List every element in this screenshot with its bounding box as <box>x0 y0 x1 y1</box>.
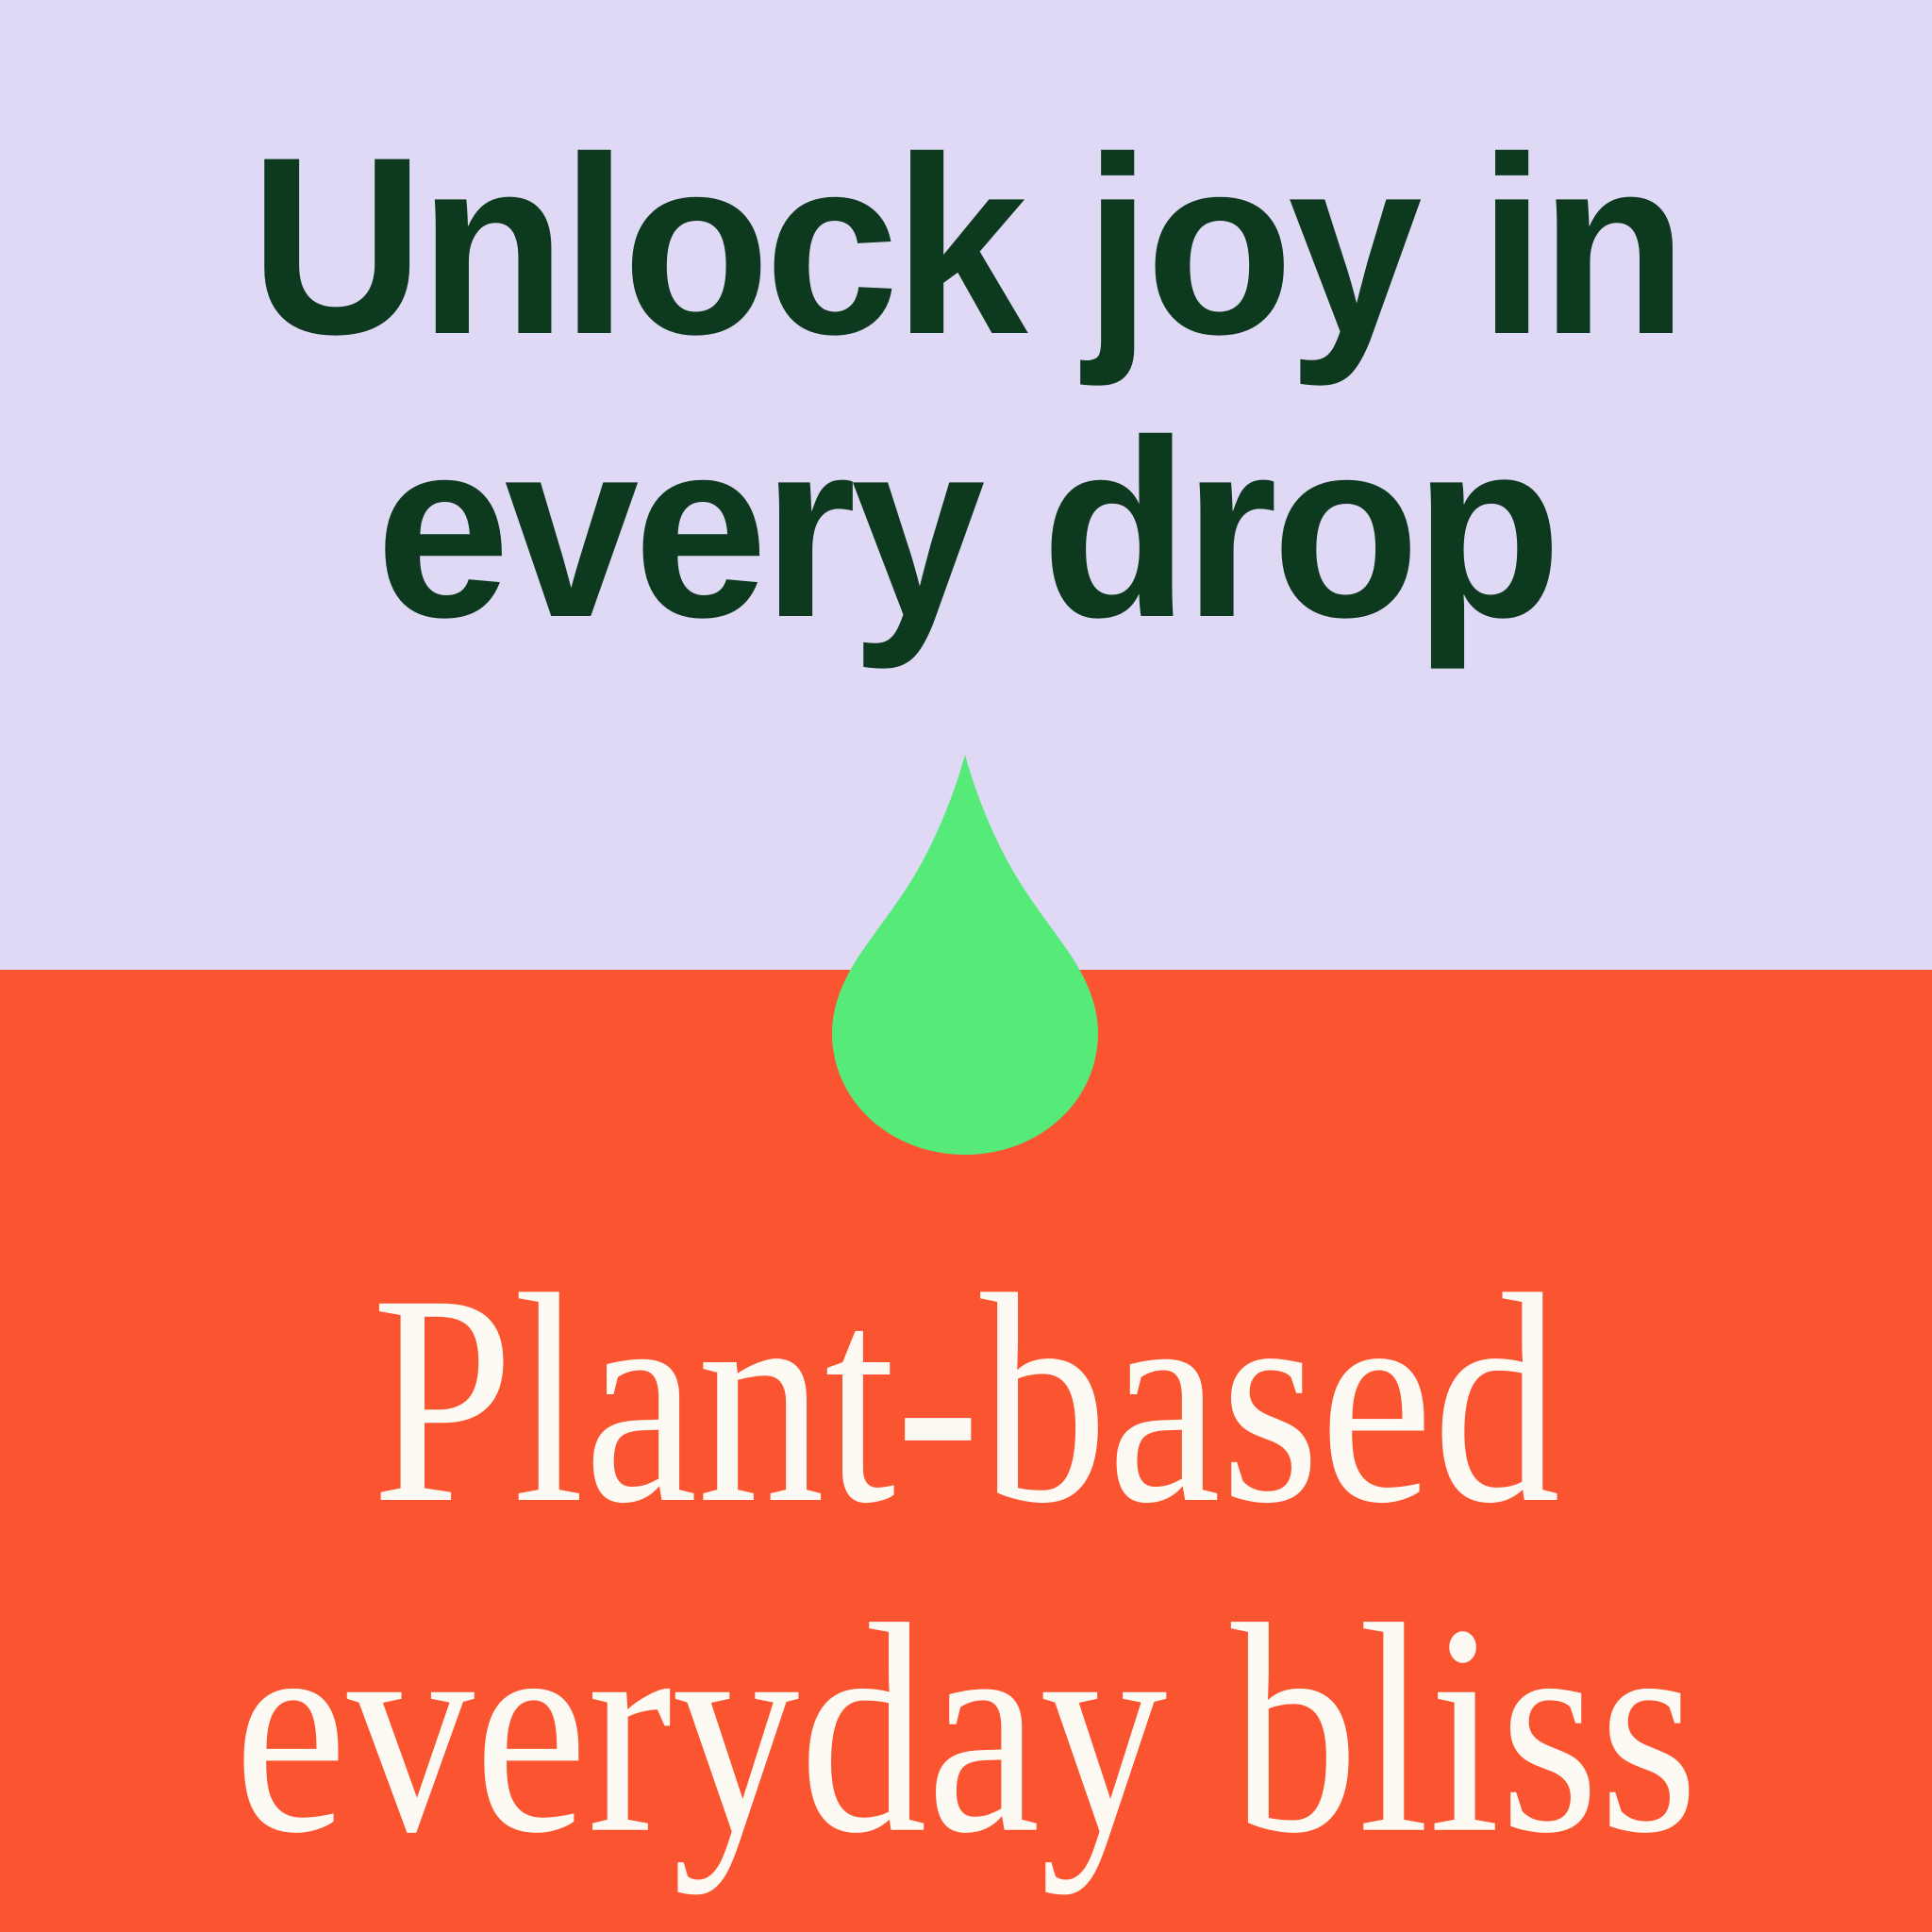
headline-line-1: Unlock joy in <box>43 104 1889 387</box>
subheadline: Plant-based everyday bliss <box>96 1234 1835 1894</box>
water-droplet-icon <box>826 755 1104 1158</box>
subheadline-line-2: everyday bliss <box>96 1564 1835 1894</box>
subheadline-line-1: Plant-based <box>96 1234 1835 1564</box>
headline: Unlock joy in every drop <box>43 104 1889 670</box>
headline-line-2: every drop <box>43 387 1889 670</box>
poster-canvas: Unlock joy in every drop Plant-based eve… <box>0 0 1932 1932</box>
